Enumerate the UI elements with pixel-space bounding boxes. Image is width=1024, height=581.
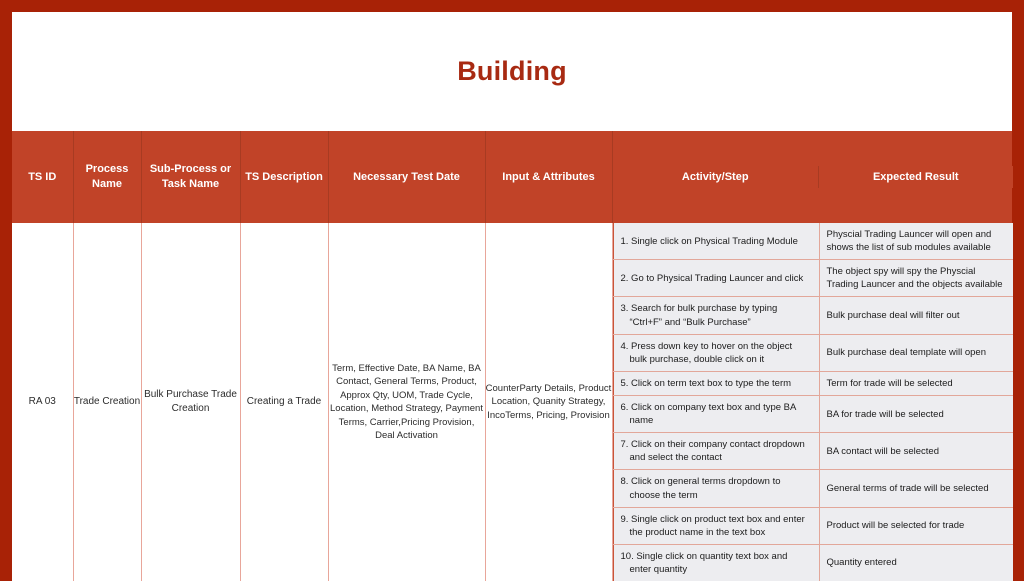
cell-sub-process-name: Bulk Purchase Trade Creation [141, 223, 240, 581]
step-expected-result-cell: Bulk purchase deal template will open [819, 334, 1013, 371]
table-header: TS ID Process Name Sub-Process or Task N… [12, 131, 1012, 223]
step-activity-cell: 4. Press down key to hover on the object… [613, 334, 819, 371]
column-header-ts-id: TS ID [12, 131, 73, 223]
step-row: 8. Click on general terms dropdown to ch… [613, 470, 1013, 507]
step-activity-cell: 3. Search for bulk purchase by typing “C… [613, 297, 819, 334]
cell-ts-description: Creating a Trade [240, 223, 328, 581]
step-row: 3. Search for bulk purchase by typing “C… [613, 297, 1013, 334]
column-header-process-name: Process Name [73, 131, 141, 223]
slide-root: Building TS ID Process Name Sub-Process … [0, 0, 1024, 576]
column-header-necessary-test-date: Necessary Test Date [328, 131, 485, 223]
step-activity-cell: 2. Go to Physical Trading Launcer and cl… [613, 260, 819, 297]
cell-necessary-test-date: Term, Effective Date, BA Name, BA Contac… [328, 223, 485, 581]
step-expected-result-cell: The object spy will spy the Physcial Tra… [819, 260, 1013, 297]
step-row: 7. Click on their company contact dropdo… [613, 433, 1013, 470]
header-row: TS ID Process Name Sub-Process or Task N… [12, 131, 1012, 223]
step-row: 1. Single click on Physical Trading Modu… [613, 223, 1013, 260]
column-header-activity-result-group: Activity/Step Expected Result [612, 131, 1012, 223]
step-expected-result-cell: Bulk purchase deal will filter out [819, 297, 1013, 334]
table-row: RA 03 Trade Creation Bulk Purchase Trade… [12, 223, 1012, 581]
column-header-input-attributes: Input & Attributes [485, 131, 612, 223]
step-activity-cell: 9. Single click on product text box and … [613, 507, 819, 544]
column-header-sub-process-name: Sub-Process or Task Name [141, 131, 240, 223]
step-expected-result-cell: BA for trade will be selected [819, 395, 1013, 432]
column-header-activity-step: Activity/Step [613, 166, 819, 189]
step-expected-result-cell: Physcial Trading Launcer will open and s… [819, 223, 1013, 260]
step-expected-result-cell: Product will be selected for trade [819, 507, 1013, 544]
step-expected-result-cell: General terms of trade will be selected [819, 470, 1013, 507]
title-band: Building [12, 12, 1012, 131]
step-activity-cell: 6. Click on company text box and type BA… [613, 395, 819, 432]
page-title: Building [457, 57, 567, 87]
cell-activity-steps-host: 1. Single click on Physical Trading Modu… [612, 223, 1012, 581]
step-row: 4. Press down key to hover on the object… [613, 334, 1013, 371]
activity-steps-table: 1. Single click on Physical Trading Modu… [613, 223, 1014, 581]
step-activity-cell: 8. Click on general terms dropdown to ch… [613, 470, 819, 507]
cell-process-name: Trade Creation [73, 223, 141, 581]
step-row: 2. Go to Physical Trading Launcer and cl… [613, 260, 1013, 297]
step-activity-cell: 7. Click on their company contact dropdo… [613, 433, 819, 470]
step-activity-cell: 5. Click on term text box to type the te… [613, 371, 819, 395]
activity-result-header-row: Activity/Step Expected Result [613, 166, 1013, 189]
activity-steps-body: 1. Single click on Physical Trading Modu… [613, 223, 1013, 581]
step-expected-result-cell: BA contact will be selected [819, 433, 1013, 470]
step-row: 5. Click on term text box to type the te… [613, 371, 1013, 395]
table-body: RA 03 Trade Creation Bulk Purchase Trade… [12, 223, 1012, 581]
column-header-ts-description: TS Description [240, 131, 328, 223]
test-scenario-table: TS ID Process Name Sub-Process or Task N… [12, 131, 1012, 581]
column-header-expected-result: Expected Result [819, 166, 1013, 189]
step-row: 9. Single click on product text box and … [613, 507, 1013, 544]
activity-result-header-table: Activity/Step Expected Result [613, 166, 1013, 189]
step-activity-cell: 1. Single click on Physical Trading Modu… [613, 223, 819, 260]
cell-input-attributes: CounterParty Details, Product Location, … [485, 223, 612, 581]
step-expected-result-cell: Term for trade will be selected [819, 371, 1013, 395]
test-scenario-table-wrapper: TS ID Process Name Sub-Process or Task N… [12, 131, 1012, 564]
step-row: 6. Click on company text box and type BA… [613, 395, 1013, 432]
cell-ts-id: RA 03 [12, 223, 73, 581]
